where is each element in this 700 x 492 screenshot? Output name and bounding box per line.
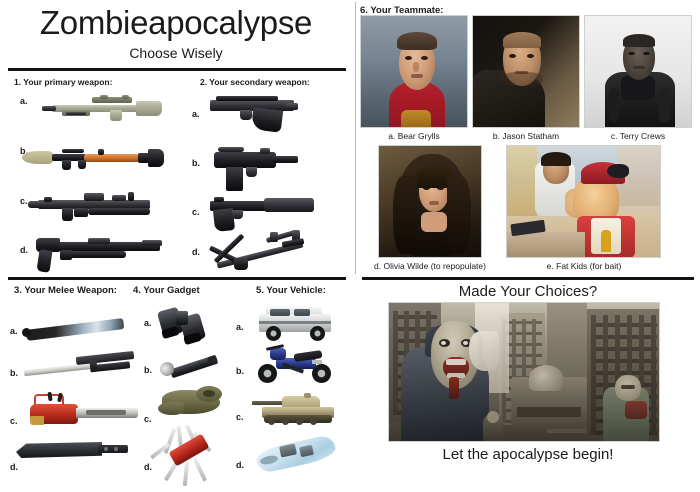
baseball-bat-icon[interactable] [22, 312, 126, 342]
submachine-gun-icon[interactable] [212, 140, 308, 190]
page-title: Zombieapocalypse [0, 0, 352, 43]
option-letter-melee-b: b. [10, 368, 18, 378]
divider-top [8, 68, 346, 71]
katana-icon[interactable] [24, 352, 140, 384]
option-letter-gadget-c: c. [144, 414, 152, 424]
snowmobile-icon[interactable] [252, 434, 342, 474]
assault-rifle-icon[interactable] [28, 186, 168, 226]
option-letter-melee-a: a. [10, 326, 18, 336]
binoculars-icon[interactable] [158, 305, 216, 347]
crossbow-icon[interactable] [208, 228, 322, 274]
terry-crews-photo[interactable] [584, 15, 692, 128]
zombie-apocalypse-photo[interactable] [388, 302, 660, 442]
pump-shotgun-icon[interactable] [36, 232, 166, 274]
flashlight-icon[interactable] [158, 348, 220, 382]
photo-caption-olivia-wilde: d. Olivia Wilde (to repopulate) [366, 261, 494, 271]
dirt-bike-icon[interactable] [256, 344, 336, 384]
option-letter-secondary-a: a. [192, 109, 200, 119]
title-block: Zombieapocalypse Choose Wisely [0, 0, 352, 70]
machete-icon[interactable] [16, 438, 132, 464]
divider-right [362, 277, 694, 280]
option-letter-melee-c: c. [10, 416, 18, 426]
option-letter-gadget-a: a. [144, 318, 152, 328]
finale-footer: Let the apocalypse begin! [362, 446, 694, 463]
fat-kids-photo[interactable] [506, 145, 661, 258]
rpg-launcher-icon[interactable] [22, 140, 170, 170]
option-letter-gadget-d: d. [144, 462, 152, 472]
photo-caption-fat-kids: e. Fat Kids (for bait) [512, 261, 656, 271]
option-letter-secondary-c: c. [192, 207, 200, 217]
option-letter-vehicle-b: b. [236, 366, 244, 376]
option-letter-secondary-b: b. [192, 158, 200, 168]
photo-caption-terry-crews: c. Terry Crews [584, 131, 692, 141]
swiss-army-knife-icon[interactable] [152, 424, 228, 486]
sniper-rifle-icon[interactable] [40, 93, 165, 123]
rope-icon[interactable] [156, 382, 226, 424]
section-heading-vehicle: 5. Your Vehicle: [256, 285, 326, 296]
hummer-suv-icon[interactable] [256, 304, 336, 342]
section-heading-primary-weapon: 1. Your primary weapon: [14, 77, 112, 87]
silenced-pistol-icon[interactable] [210, 196, 324, 230]
section-heading-secondary-weapon: 2. Your secondary weapon: [200, 77, 310, 87]
option-letter-vehicle-d: d. [236, 460, 244, 470]
page-subtitle: Choose Wisely [0, 44, 352, 62]
bear-grylls-photo[interactable] [360, 15, 468, 128]
meme-page: Zombieapocalypse Choose Wisely 1. Your p… [0, 0, 700, 492]
option-letter-primary-d: d. [20, 245, 28, 255]
divider-vertical [355, 2, 356, 274]
jason-statham-photo[interactable] [472, 15, 580, 128]
abrams-tank-icon[interactable] [252, 392, 342, 428]
chainsaw-icon[interactable] [26, 392, 142, 432]
option-letter-vehicle-a: a. [236, 322, 244, 332]
option-letter-vehicle-c: c. [236, 412, 244, 422]
olivia-wilde-photo[interactable] [378, 145, 482, 258]
section-heading-gadget: 4. Your Gadget [133, 285, 200, 296]
divider-middle [8, 277, 346, 280]
option-letter-gadget-b: b. [144, 365, 152, 375]
photo-caption-jason-statham: b. Jason Statham [472, 131, 580, 141]
finale-heading: Made Your Choices? [362, 283, 694, 300]
option-letter-primary-a: a. [20, 96, 28, 106]
option-letter-secondary-d: d. [192, 247, 200, 257]
desert-eagle-icon[interactable] [210, 94, 310, 134]
option-letter-primary-c: c. [20, 196, 28, 206]
photo-caption-bear-grylls: a. Bear Grylls [360, 131, 468, 141]
section-heading-melee-weapon: 3. Your Melee Weapon: [14, 285, 117, 296]
